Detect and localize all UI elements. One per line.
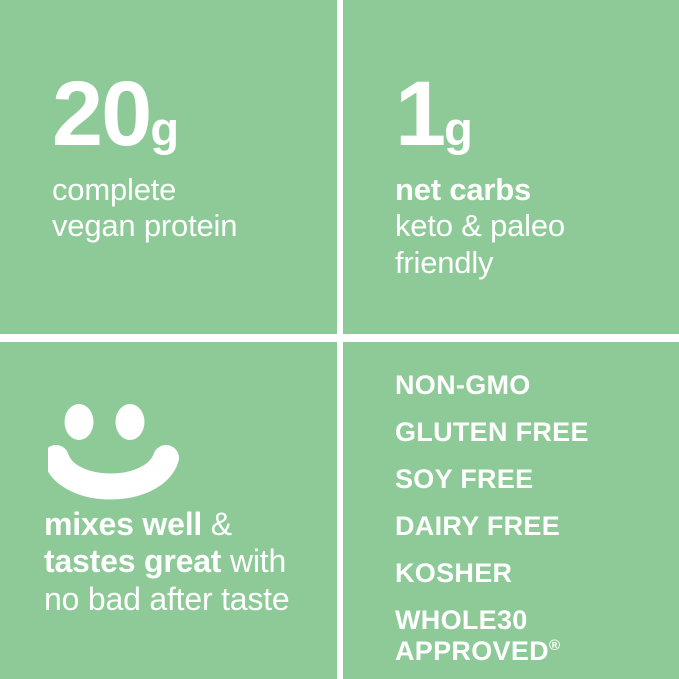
taste-description-line-1: mixes well & <box>44 506 289 543</box>
product-benefits-panel: 20g complete vegan protein 1g net carbs … <box>0 0 679 679</box>
certification-item: SOY FREE <box>395 466 589 493</box>
carbs-stat-number: 1 <box>395 63 444 165</box>
taste-line-1-rest: & <box>202 506 232 542</box>
carbs-stat: 1g <box>395 68 472 160</box>
taste-line-1-bold: mixes well <box>44 506 202 542</box>
quadrant-taste: mixes well & tastes great with no bad af… <box>0 342 337 679</box>
protein-description: complete vegan protein <box>52 172 237 245</box>
certification-item: GLUTEN FREE <box>395 419 589 446</box>
taste-description: mixes well & tastes great with no bad af… <box>44 506 289 618</box>
protein-stat-unit: g <box>150 102 178 155</box>
certification-label: APPROVED <box>395 636 549 666</box>
certification-label: NON-GMO <box>395 370 531 400</box>
carbs-description-line-3: friendly <box>395 245 565 281</box>
quadrant-net-carbs: 1g net carbs keto & paleo friendly <box>343 0 679 334</box>
quadrant-certifications: NON-GMOGLUTEN FREESOY FREEDAIRY FREEKOSH… <box>343 342 679 679</box>
carbs-description: net carbs keto & paleo friendly <box>395 172 565 281</box>
protein-stat: 20g <box>52 68 178 160</box>
taste-line-2-bold: tastes great <box>44 543 221 579</box>
protein-description-line-1: complete <box>52 172 237 208</box>
taste-line-2-rest: with <box>221 543 286 579</box>
carbs-stat-unit: g <box>444 102 472 155</box>
protein-description-line-2: vegan protein <box>52 208 237 244</box>
carbs-description-line-2: keto & paleo <box>395 208 565 244</box>
certification-list: NON-GMOGLUTEN FREESOY FREEDAIRY FREEKOSH… <box>395 372 589 665</box>
certification-item: KOSHER <box>395 560 589 587</box>
taste-description-line-3: no bad after taste <box>44 581 289 618</box>
certification-item: WHOLE30 <box>395 607 589 634</box>
certification-label: DAIRY FREE <box>395 511 560 541</box>
certification-label: GLUTEN FREE <box>395 417 589 447</box>
certification-item: APPROVED® <box>395 638 589 665</box>
taste-description-line-2: tastes great with <box>44 543 289 580</box>
certification-label: SOY FREE <box>395 464 533 494</box>
certification-item: DAIRY FREE <box>395 513 589 540</box>
certification-item: NON-GMO <box>395 372 589 399</box>
certification-label: WHOLE30 <box>395 605 528 635</box>
certification-label: KOSHER <box>395 558 512 588</box>
carbs-description-line-1: net carbs <box>395 172 565 208</box>
registered-trademark-icon: ® <box>549 637 560 654</box>
smiley-face-icon <box>48 400 196 500</box>
quadrant-protein: 20g complete vegan protein <box>0 0 337 334</box>
protein-stat-number: 20 <box>52 63 150 165</box>
